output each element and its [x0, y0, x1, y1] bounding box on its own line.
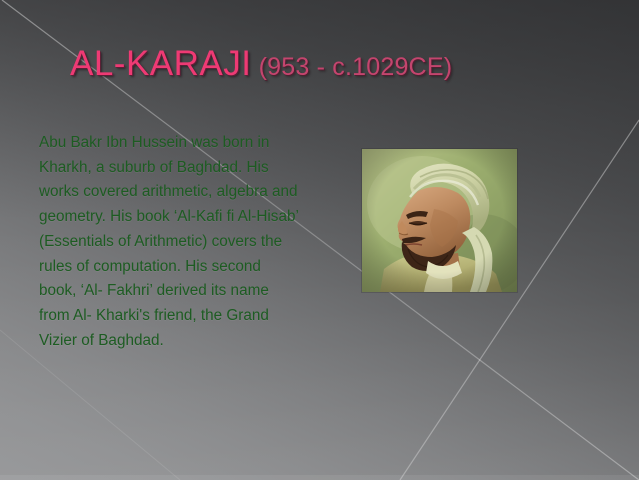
- portrait-al-karaji: [362, 149, 517, 292]
- slide-canvas: AL-KARAJI (953 - c.1029CE) Abu Bakr Ibn …: [0, 0, 639, 480]
- title-dates-text: (953 - c.1029CE): [252, 53, 453, 81]
- bottom-highlight-strip: [0, 475, 639, 480]
- portrait-illustration: [362, 149, 517, 292]
- page-title: AL-KARAJI (953 - c.1029CE): [70, 44, 452, 84]
- body-paragraph: Abu Bakr Ibn Hussein was born in Kharkh,…: [39, 131, 301, 353]
- title-main-text: AL-KARAJI: [70, 44, 252, 83]
